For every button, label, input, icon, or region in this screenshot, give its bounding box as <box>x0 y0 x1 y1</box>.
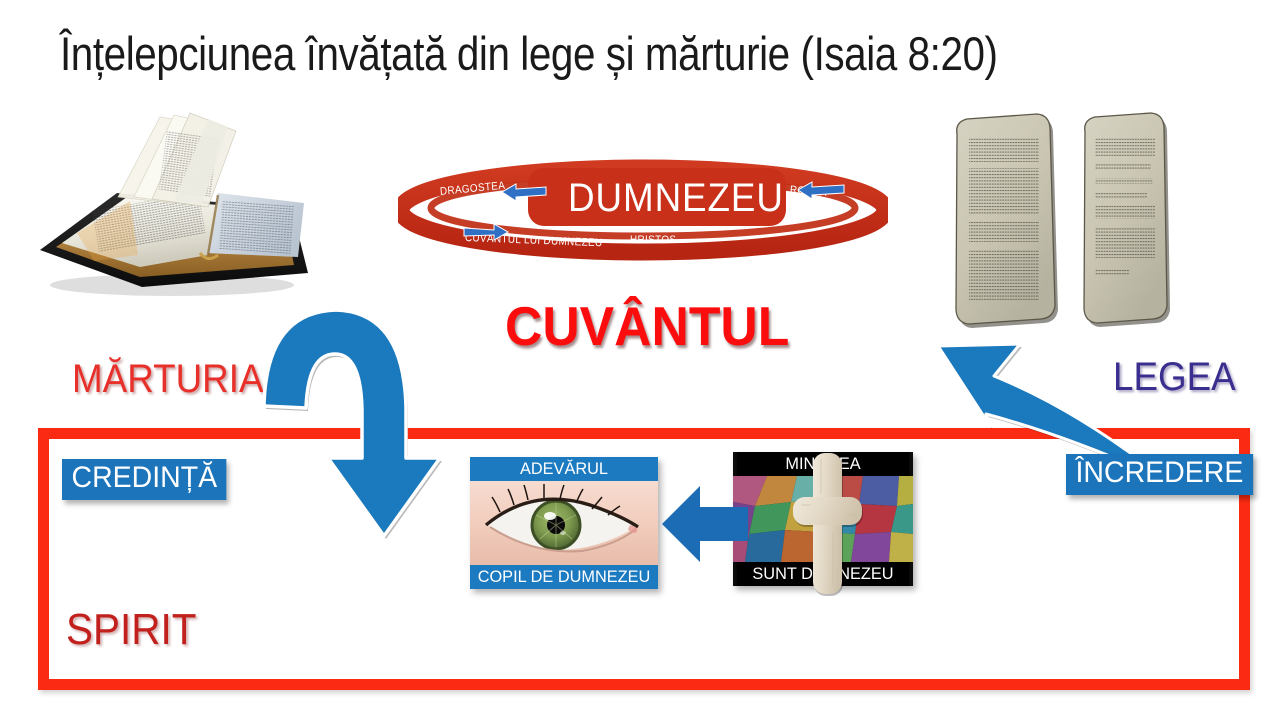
heading-marturia: MĂRTURIA <box>72 357 264 402</box>
ring-arrows <box>398 150 888 270</box>
slide-canvas: Înțelepciunea învățată din lege și mărtu… <box>0 0 1280 720</box>
page-title: Înțelepciunea învățată din lege și mărtu… <box>60 26 998 81</box>
wooden-cross <box>793 453 863 598</box>
label-incredere[interactable]: ÎNCREDERE <box>1066 454 1253 495</box>
left-arrow-between-cards <box>660 482 750 567</box>
truth-card-top-label: ADEVĂRUL <box>474 457 654 481</box>
oval-cycle-diagram: DUMNEZEU DRAGOSTEA ROADĂ CUVÂNTUL LUI DU… <box>398 150 888 270</box>
label-credinta[interactable]: CREDINȚĂ <box>62 459 227 500</box>
ten-commandments-tablets <box>945 110 1175 335</box>
open-bible-photo <box>22 105 312 305</box>
truth-card-bottom-label: COPIL DE DUMNEZEU <box>474 565 654 589</box>
heading-cuvantul: CUVÂNTUL <box>505 294 789 358</box>
human-eye-photo <box>470 481 658 565</box>
curved-down-arrow <box>262 288 477 553</box>
truth-card[interactable]: ADEVĂRUL <box>470 457 658 589</box>
heading-spirit: SPIRIT <box>66 605 196 655</box>
